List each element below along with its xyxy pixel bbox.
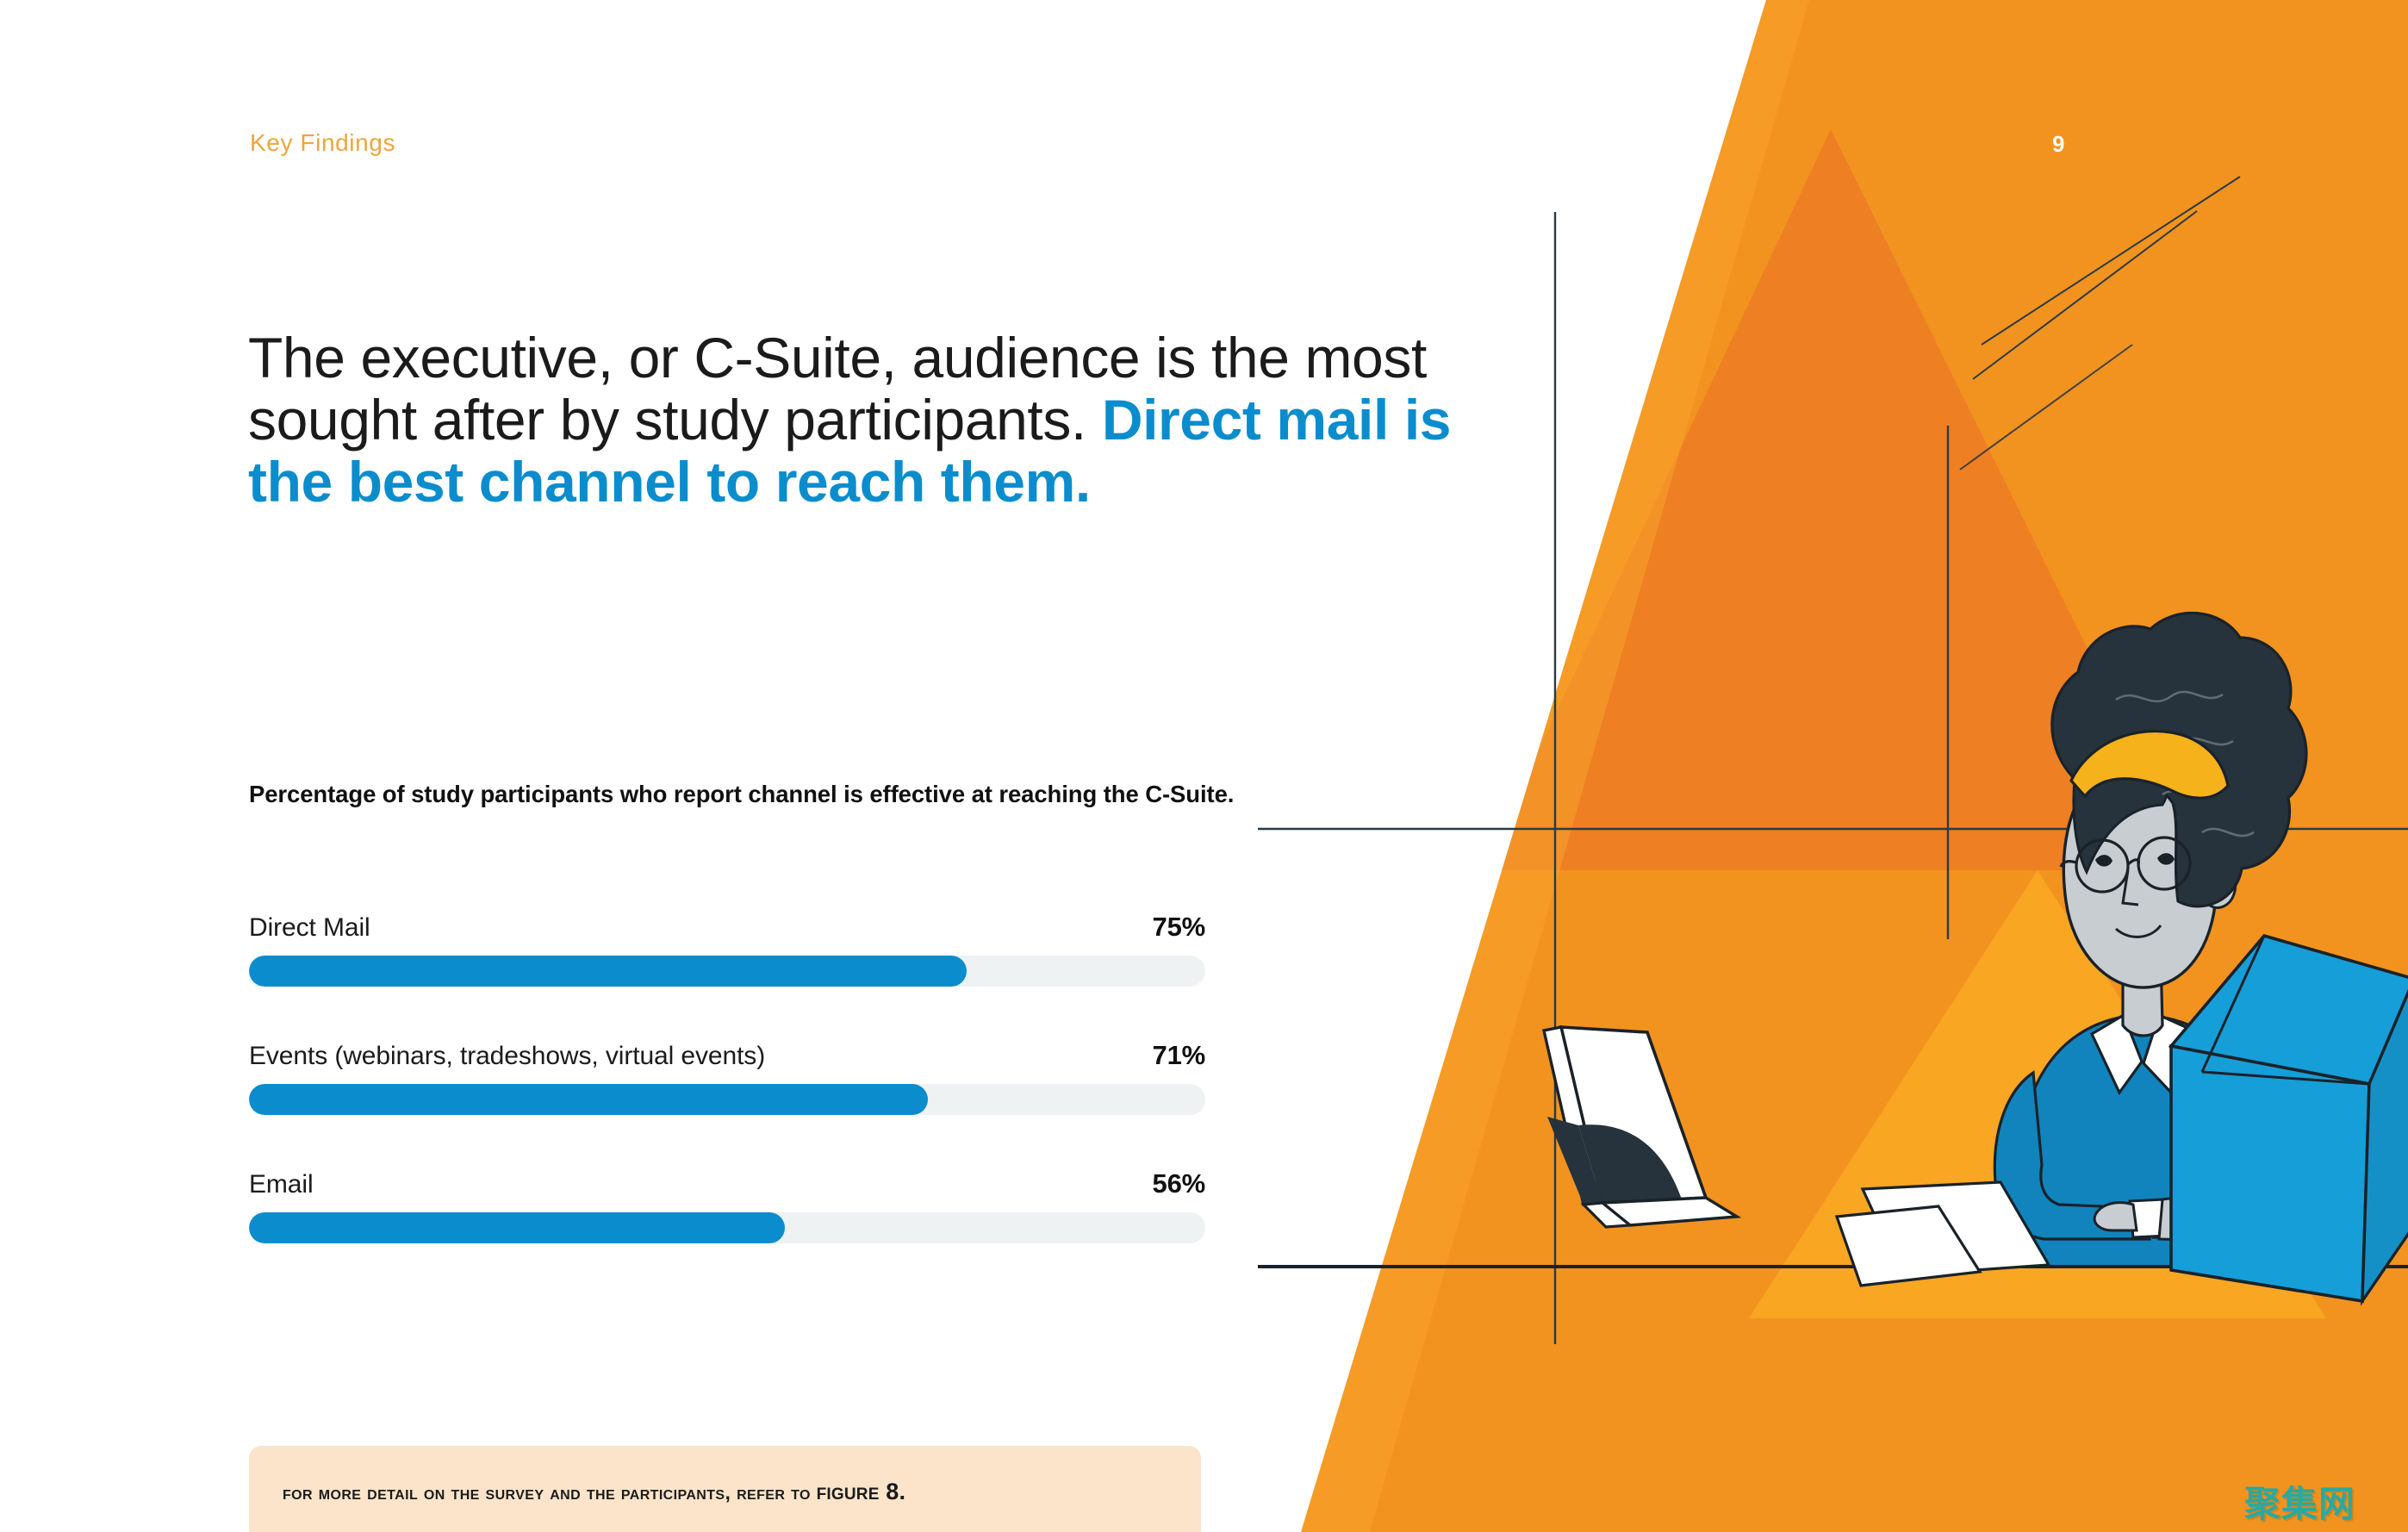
footnote-figure-ref: Figure 8. [817,1479,906,1504]
watermark: 聚集网 [2244,1475,2355,1528]
bar-fill [249,1212,785,1243]
slide-page: 9 聚集网 Key Findings The executive, or C-S… [0,0,2408,1532]
bar-track [249,956,1205,987]
bar-fill [249,956,967,987]
bar-label: Direct Mail [249,913,370,943]
section-eyebrow-key-findings: Key Findings [250,129,395,157]
bar-header: Events (webinars, tradeshows, virtual ev… [249,1040,1205,1071]
bar-label: Events (webinars, tradeshows, virtual ev… [249,1042,765,1071]
channel-effectiveness-bar-chart: Direct Mail 75% Events (webinars, trades… [249,912,1205,1243]
bar-header: Direct Mail 75% [249,912,1205,943]
illustration-panel [1258,0,2408,1532]
bar-track [249,1212,1205,1243]
footnote-text: For more detail on the survey and the pa… [283,1481,905,1504]
bar-value: 71% [1153,1040,1205,1071]
bar-track [249,1084,1205,1115]
bar-row: Events (webinars, tradeshows, virtual ev… [249,1040,1205,1115]
illustration-svg [1258,0,2408,1532]
bar-fill [249,1084,928,1115]
bar-label: Email [249,1170,314,1199]
footnote-callout: For more detail on the survey and the pa… [249,1446,1201,1532]
bar-row: Email 56% [249,1168,1205,1243]
bar-header: Email 56% [249,1168,1205,1199]
page-number: 9 [2052,131,2065,158]
bar-value: 75% [1153,912,1205,943]
chart-title: Percentage of study participants who rep… [249,777,1248,811]
bar-value: 56% [1153,1168,1205,1199]
footnote-lead: For more detail on the survey and the pa… [283,1481,817,1504]
bar-row: Direct Mail 75% [249,912,1205,987]
page-headline: The executive, or C-Suite, audience is t… [248,327,1454,514]
